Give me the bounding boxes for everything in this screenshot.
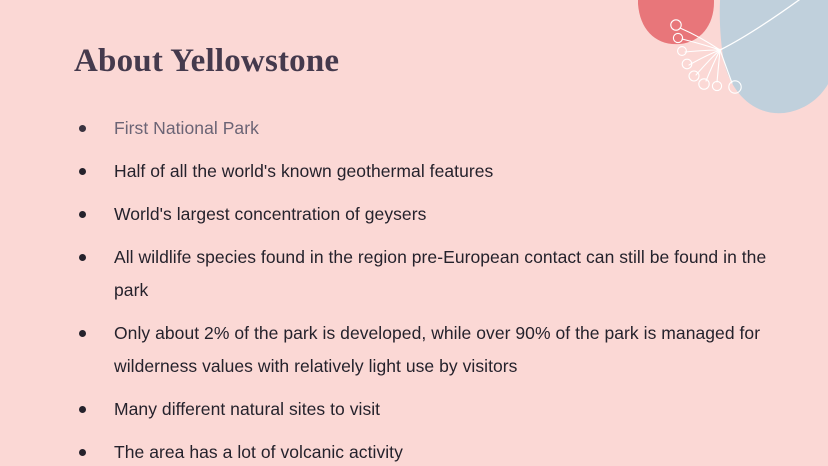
list-item: All wildlife species found in the region… xyxy=(74,241,774,307)
page-title: About Yellowstone xyxy=(74,43,339,81)
list-item-label: Half of all the world's known geothermal… xyxy=(114,155,774,188)
list-item: Half of all the world's known geothermal… xyxy=(74,155,774,188)
bullet-dot-icon xyxy=(79,254,86,261)
seed-circle xyxy=(673,33,682,42)
blue-blob xyxy=(720,0,828,113)
dandelion-line-art xyxy=(671,0,810,93)
presentation-slide: About Yellowstone First National Park Ha… xyxy=(0,0,828,466)
list-item: First National Park xyxy=(74,112,774,145)
seed-circle xyxy=(678,47,687,56)
bullet-dot-icon xyxy=(79,449,86,456)
list-item-label: The area has a lot of volcanic activity xyxy=(114,436,774,466)
list-item: Many different natural sites to visit xyxy=(74,393,774,426)
seed-circle xyxy=(682,59,692,69)
bullet-dot-icon xyxy=(79,211,86,218)
seed-circle xyxy=(689,71,699,81)
bullet-dot-icon xyxy=(79,125,86,132)
bullet-dot-icon xyxy=(79,168,86,175)
seed-circle xyxy=(699,79,709,89)
list-item-label: World's largest concentration of geysers xyxy=(114,198,774,231)
seed-circle xyxy=(712,81,721,90)
bullet-dot-icon xyxy=(79,406,86,413)
seed-circle xyxy=(729,81,741,93)
list-item: Only about 2% of the park is developed, … xyxy=(74,317,774,383)
list-item-label: Only about 2% of the park is developed, … xyxy=(114,317,774,383)
list-item-label: All wildlife species found in the region… xyxy=(114,241,774,307)
coral-blob xyxy=(638,0,714,44)
bullet-dot-icon xyxy=(79,330,86,337)
bullet-list: First National Park Half of all the worl… xyxy=(74,112,774,466)
list-item-label: First National Park xyxy=(114,112,774,145)
list-item-label: Many different natural sites to visit xyxy=(114,393,774,426)
list-item: World's largest concentration of geysers xyxy=(74,198,774,231)
list-item: The area has a lot of volcanic activity xyxy=(74,436,774,466)
seed-circle xyxy=(671,20,681,30)
